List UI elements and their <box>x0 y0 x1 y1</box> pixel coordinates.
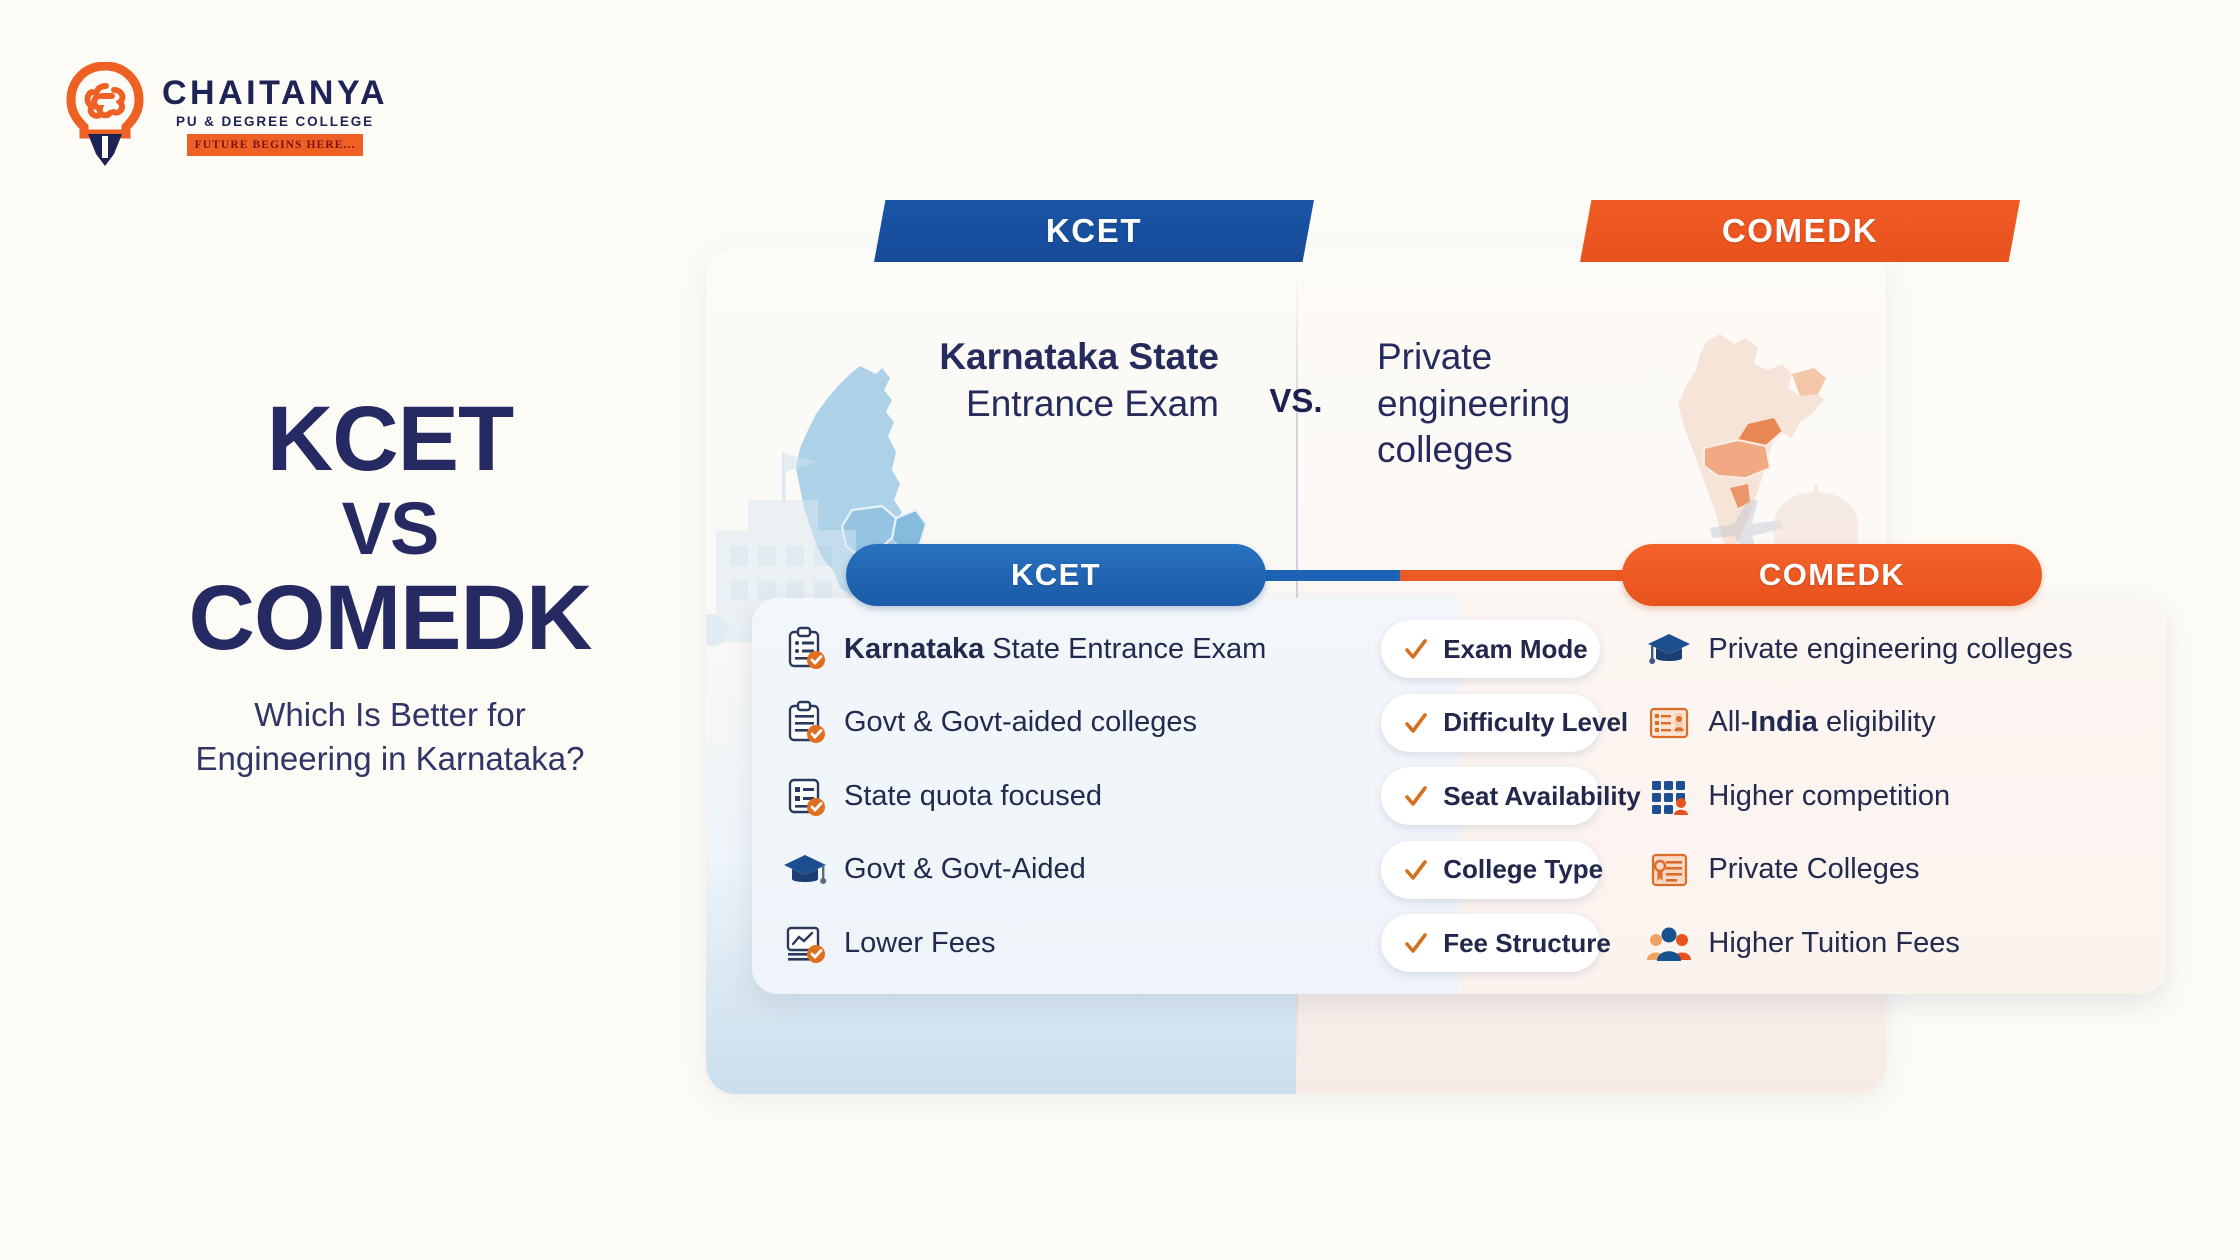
headline-subtitle-line-1: Which Is Better for <box>110 693 670 738</box>
intro-right: Private engineering colleges <box>1355 316 1886 474</box>
grid-people-icon <box>1646 773 1692 819</box>
list-item: Govt & Govt-Aided <box>782 841 1381 899</box>
intro-right-line-2: engineering <box>1377 381 1886 428</box>
section-header-kcet: KCET <box>846 544 1266 606</box>
ribbon-kcet-label: KCET <box>1046 212 1142 250</box>
brand-logo: CHAITANYA PU & DEGREE COLLEGE FUTURE BEG… <box>62 62 388 170</box>
criteria-pill-college-type[interactable]: College Type <box>1381 841 1600 899</box>
headline-subtitle-line-2: Engineering in Karnataka? <box>110 737 670 782</box>
intro-right-line-3: colleges <box>1377 427 1886 474</box>
section-header-comedk-label: COMEDK <box>1759 557 1905 593</box>
brand-subtitle: PU & DEGREE COLLEGE <box>176 115 374 129</box>
criteria-label-5: Fee Structure <box>1443 928 1611 959</box>
ribbon-comedk-label: COMEDK <box>1722 212 1878 250</box>
main-headline: KCET VS COMEDK Which Is Better for Engin… <box>110 390 670 782</box>
comedk-item-label-5: Higher Tuition Fees <box>1708 927 1959 960</box>
check-icon <box>1403 857 1429 883</box>
ribbon-header-kcet: KCET <box>874 200 1314 262</box>
kcet-item-label-5: Lower Fees <box>844 927 996 960</box>
clipboard-check-icon <box>782 700 828 746</box>
ribbon-header-comedk: COMEDK <box>1580 200 2020 262</box>
certificate-icon <box>1646 847 1692 893</box>
people-group-icon <box>1646 920 1692 966</box>
headline-line-1: KCET <box>110 390 670 489</box>
comparison-card: Karnataka State Entrance Exam Govt & Gov… <box>752 598 2166 994</box>
clipboard-lines-icon <box>782 773 828 819</box>
comedk-item-label-2: All-India eligibility <box>1708 706 1935 739</box>
check-icon <box>1403 930 1429 956</box>
list-item: Lower Fees <box>782 914 1381 972</box>
brain-bulb-pen-icon <box>62 62 148 170</box>
intro-left: Karnataka State Entrance Exam <box>706 316 1237 427</box>
brand-name: CHAITANYA <box>162 76 388 110</box>
comedk-item-label-3: Higher competition <box>1708 780 1950 813</box>
headline-line-3: COMEDK <box>110 569 670 668</box>
graduation-cap-icon <box>1646 626 1692 672</box>
list-item: All-India eligibility <box>1646 694 2166 752</box>
section-header-comedk: COMEDK <box>1622 544 2042 606</box>
list-item: Karnataka State Entrance Exam <box>782 620 1381 678</box>
check-icon <box>1403 636 1429 662</box>
intro-left-rest: Entrance Exam <box>706 381 1219 428</box>
list-item: Govt & Govt-aided colleges <box>782 694 1381 752</box>
comedk-feature-list: Private engineering colleges All-India e… <box>1600 620 2166 972</box>
brand-tagline: FUTURE BEGINS HERE... <box>187 134 363 156</box>
comedk-item-label-1: Private engineering colleges <box>1708 633 2072 666</box>
graduation-cap-icon <box>782 847 828 893</box>
list-item: State quota focused <box>782 767 1381 825</box>
kcet-item-label-2: Govt & Govt-aided colleges <box>844 706 1197 739</box>
kcet-feature-list: Karnataka State Entrance Exam Govt & Gov… <box>752 620 1381 972</box>
criteria-label-1: Exam Mode <box>1443 634 1588 665</box>
list-item: Private Colleges <box>1646 841 2166 899</box>
intro-right-line-1: Private <box>1377 334 1886 381</box>
clipboard-list-icon <box>782 626 828 672</box>
kcet-item-label-1: Karnataka State Entrance Exam <box>844 633 1266 666</box>
kcet-item-label-4: Govt & Govt-Aided <box>844 853 1086 886</box>
chart-monitor-icon <box>782 920 828 966</box>
comedk-item-label-4: Private Colleges <box>1708 853 1919 886</box>
criteria-pill-difficulty-level[interactable]: Difficulty Level <box>1381 694 1600 752</box>
headline-subtitle: Which Is Better for Engineering in Karna… <box>110 693 670 782</box>
check-icon <box>1403 710 1429 736</box>
kcet-item-label-3: State quota focused <box>844 780 1102 813</box>
intro-text-row: Karnataka State Entrance Exam VS. Privat… <box>706 316 1886 496</box>
list-item: Higher Tuition Fees <box>1646 914 2166 972</box>
intro-left-bold: Karnataka State <box>706 334 1219 381</box>
id-card-icon <box>1646 700 1692 746</box>
headline-line-2: VS <box>110 489 670 569</box>
criteria-pill-fee-structure[interactable]: Fee Structure <box>1381 914 1600 972</box>
criteria-list: Exam Mode Difficulty Level Seat Availabi… <box>1381 620 1600 972</box>
criteria-pill-exam-mode[interactable]: Exam Mode <box>1381 620 1600 678</box>
list-item: Higher competition <box>1646 767 2166 825</box>
section-header-kcet-label: KCET <box>1011 557 1101 593</box>
list-item: Private engineering colleges <box>1646 620 2166 678</box>
intro-vs: VS. <box>1237 316 1355 420</box>
intro-vs-label: VS. <box>1237 382 1355 420</box>
criteria-label-4: College Type <box>1443 854 1603 885</box>
check-icon <box>1403 783 1429 809</box>
criteria-pill-seat-availability[interactable]: Seat Availability <box>1381 767 1600 825</box>
